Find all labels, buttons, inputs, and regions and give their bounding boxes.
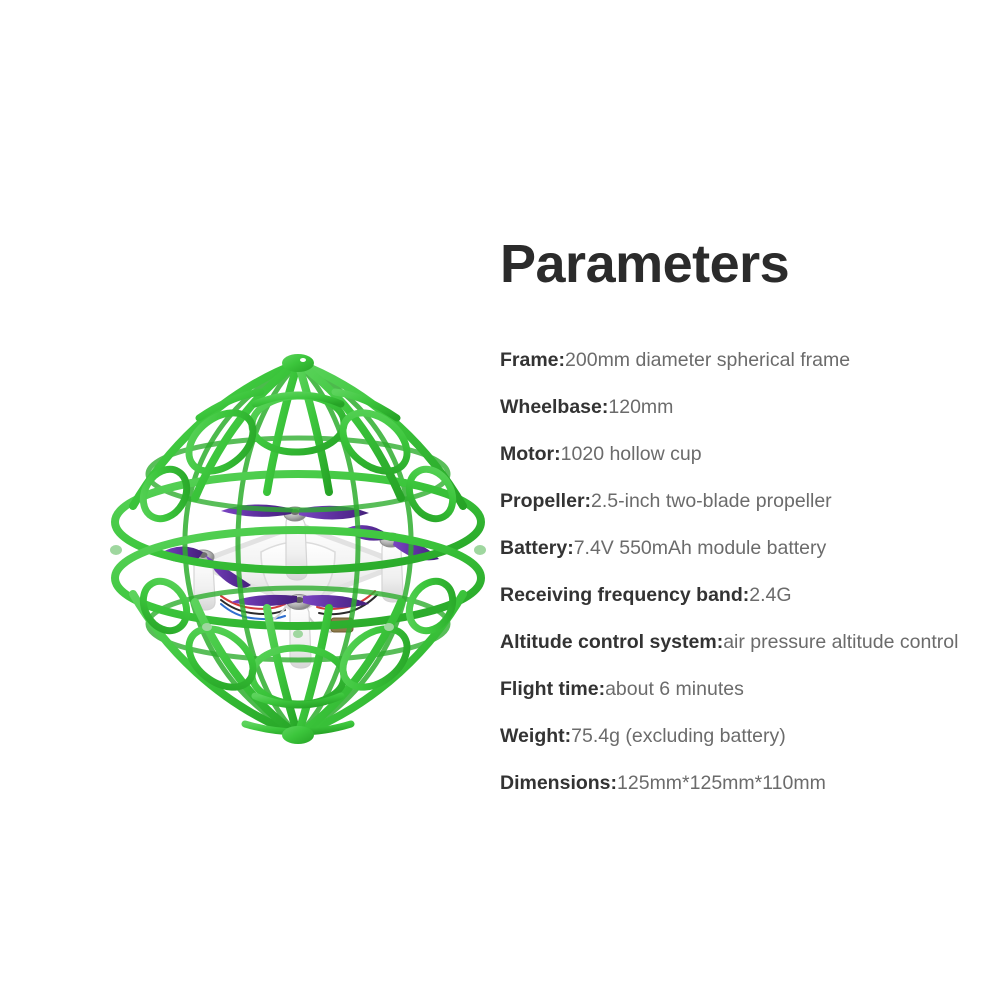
spec-row-motor: Motor:1020 hollow cup [500,431,990,478]
spec-row-propeller: Propeller:2.5-inch two-blade propeller [500,478,990,525]
product-spec-page: Parameters Frame:200mm diameter spherica… [0,0,1000,1000]
spec-label: Propeller: [500,490,591,512]
spec-label: Wheelbase: [500,396,608,418]
spec-row-receiving-frequency-band: Receiving frequency band:2.4G [500,572,990,619]
cage-bottom-hub [282,726,314,744]
spec-value: 200mm diameter spherical frame [565,349,850,371]
spec-row-weight: Weight:75.4g (excluding battery) [500,713,990,760]
spec-value: 120mm [608,396,673,418]
cage-top-hole [300,358,306,362]
propeller-blade [303,595,369,608]
spec-label: Motor: [500,443,561,465]
spec-row-frame: Frame:200mm diameter spherical frame [500,337,990,384]
spec-value: 7.4V 550mAh module battery [574,537,827,559]
parameters-panel: Parameters Frame:200mm diameter spherica… [500,236,990,807]
spec-value: 1020 hollow cup [561,443,702,465]
product-image [95,346,505,756]
page-title: Parameters [500,236,990,293]
spherical-cage [110,354,486,744]
spec-value: 75.4g (excluding battery) [571,725,786,747]
cage-top-hub [282,354,314,372]
spec-row-wheelbase: Wheelbase:120mm [500,384,990,431]
spec-row-battery: Battery:7.4V 550mAh module battery [500,525,990,572]
spec-row-dimensions: Dimensions:125mm*125mm*110mm [500,760,990,807]
spec-label: Altitude control system: [500,631,723,653]
spec-row-flight-time: Flight time:about 6 minutes [500,666,990,713]
spec-value: 125mm*125mm*110mm [617,772,826,794]
spec-value: about 6 minutes [605,678,744,700]
spec-list: Frame:200mm diameter spherical frame Whe… [500,337,990,807]
spec-label: Receiving frequency band: [500,584,749,606]
spec-value: air pressure altitude control [723,631,958,653]
spec-label: Battery: [500,537,574,559]
spec-value: 2.5-inch two-blade propeller [591,490,832,512]
spec-label: Dimensions: [500,772,617,794]
spec-label: Flight time: [500,678,605,700]
spec-label: Frame: [500,349,565,371]
spec-value: 2.4G [749,584,791,606]
spec-label: Weight: [500,725,571,747]
spec-row-altitude-control-system: Altitude control system:air pressure alt… [500,619,990,666]
